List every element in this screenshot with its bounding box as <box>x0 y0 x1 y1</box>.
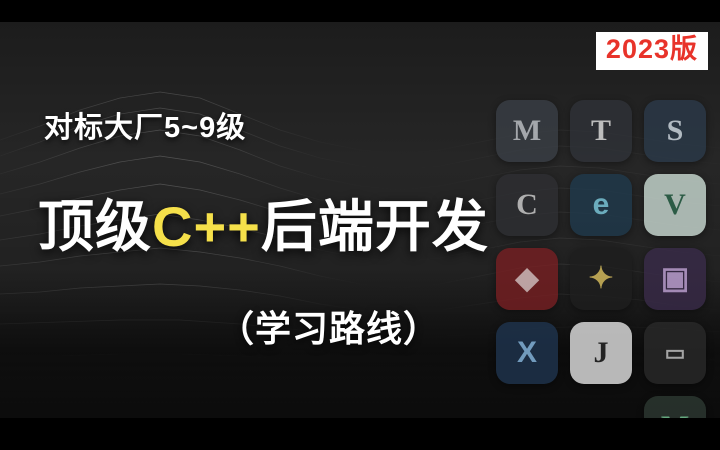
clion-icon-glyph: C <box>516 190 538 220</box>
sublime-text-icon-glyph: S <box>667 116 684 146</box>
mailspring-icon: M <box>644 396 706 418</box>
firewall-icon-glyph: ◆ <box>515 264 538 294</box>
vim-icon: V <box>644 174 706 236</box>
sleep-icon-glyph: ▭ <box>665 342 686 364</box>
app-icon-grid: M T S C e V ◆ ✦ ▣ <box>496 100 706 418</box>
vs-code-icon: X <box>496 322 558 384</box>
typora-icon: T <box>570 100 632 162</box>
page-title: 顶级C++后端开发 <box>38 182 489 263</box>
sleep-icon: ▭ <box>644 322 706 384</box>
vs-code-icon-glyph: X <box>517 338 537 368</box>
vim-icon-glyph: V <box>664 190 686 220</box>
jetbrains-icon-glyph: J <box>594 338 609 368</box>
poster-canvas: M T S C e V ◆ ✦ ▣ <box>0 22 720 418</box>
letterbox-top <box>0 0 720 22</box>
title-part1: 顶级 <box>38 195 152 258</box>
edge-icon: e <box>570 174 632 236</box>
title-part3: 后端开发 <box>261 195 489 258</box>
clion-icon: C <box>496 174 558 236</box>
butterfly-icon: ✦ <box>570 248 632 310</box>
firewall-icon: ◆ <box>496 248 558 310</box>
letterbox-bottom <box>0 418 720 450</box>
jetbrains-icon: J <box>570 322 632 384</box>
year-badge: 2023版 <box>596 32 708 70</box>
subtitle-top: 对标大厂5~9级 <box>44 104 246 146</box>
database-icon: ▣ <box>644 248 706 310</box>
evernote-icon: M <box>496 100 558 162</box>
thumbnail-image: M T S C e V ◆ ✦ ▣ <box>0 0 720 450</box>
database-icon-glyph: ▣ <box>661 264 689 294</box>
subtitle-bottom: （学习路线） <box>218 300 440 352</box>
typora-icon-glyph: T <box>591 116 611 146</box>
butterfly-icon-glyph: ✦ <box>588 264 613 294</box>
evernote-icon-glyph: M <box>513 116 541 146</box>
title-part2: C++ <box>152 195 261 258</box>
edge-icon-glyph: e <box>593 190 610 220</box>
sublime-text-icon: S <box>644 100 706 162</box>
